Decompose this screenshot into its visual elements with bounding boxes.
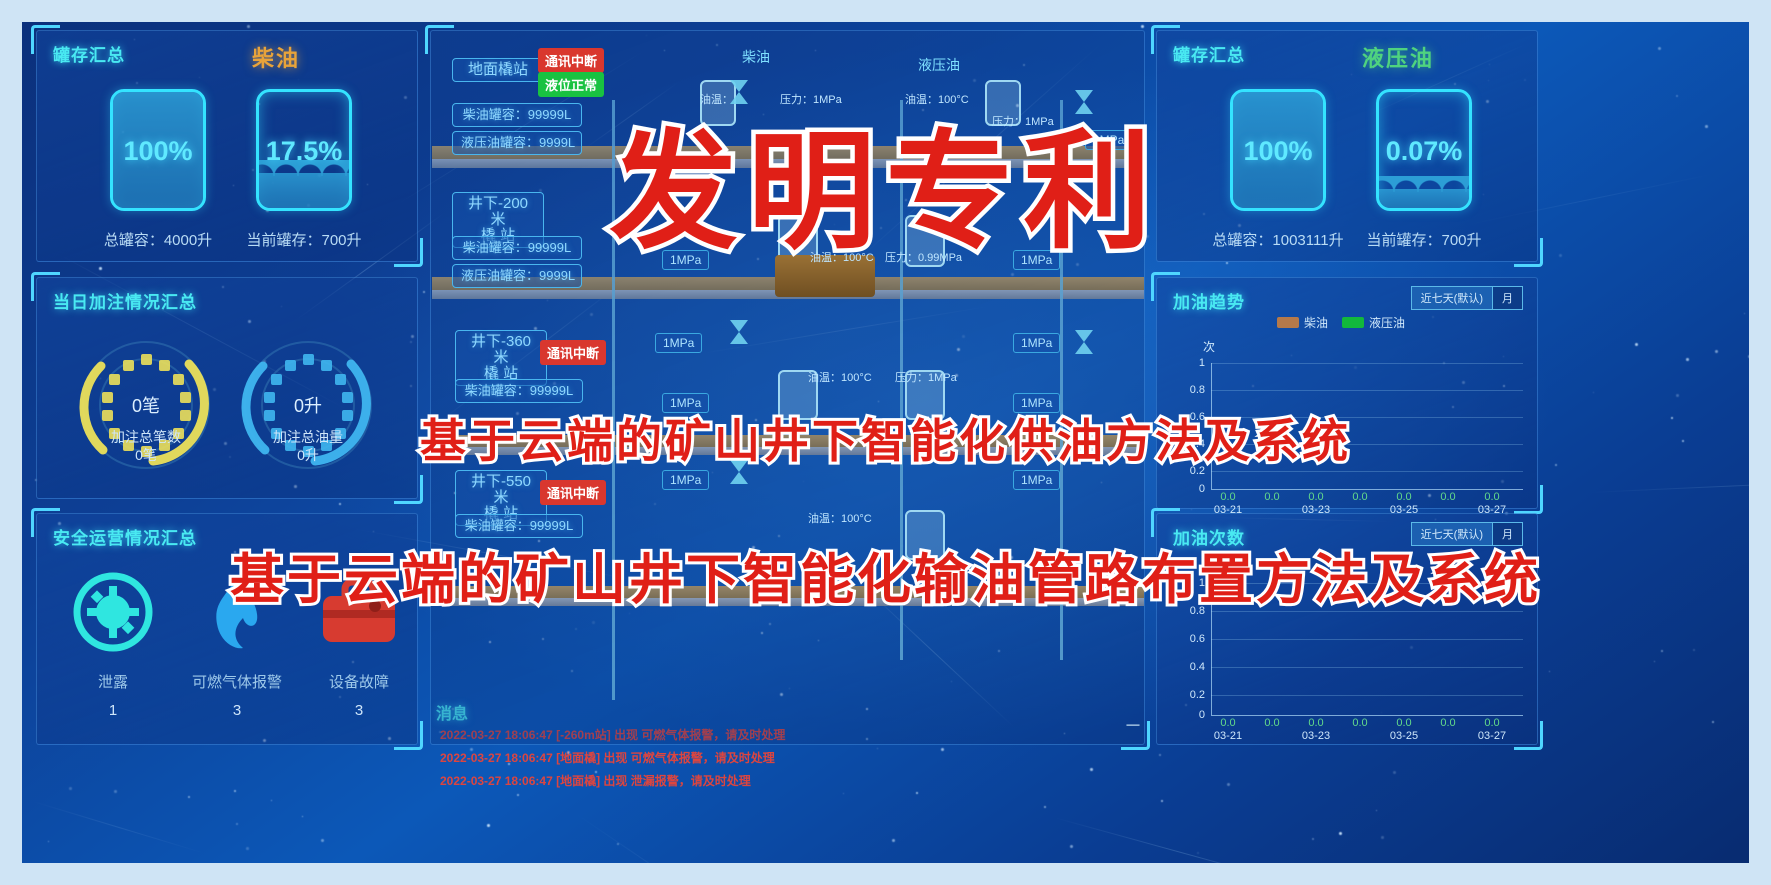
- pressure-tag-7: 1MPa: [662, 470, 709, 490]
- trend-range-buttons[interactable]: 近七天(默认) 月: [1411, 286, 1523, 310]
- trend-legend-item-hydraulic: 液压油: [1342, 314, 1405, 331]
- tank-percent-current-left: 17.5%: [259, 136, 349, 167]
- trend-range-month-button[interactable]: 月: [1493, 286, 1523, 310]
- safety-item-leak: 泄露 1: [53, 566, 173, 719]
- trend-point-label-6: 0.0: [1479, 491, 1505, 503]
- pressure-tag-3: 1MPa: [655, 333, 702, 353]
- trend-y-unit: 次: [1203, 338, 1215, 355]
- dashboard-screen: 罐存汇总 柴油 100% 总罐容：4000升 17.5% 当前罐存：700升 当…: [0, 0, 1771, 885]
- watermark-line-1: 基于云端的矿山井下智能化供油方法及系统: [420, 405, 1351, 471]
- trend-point-label-2: 0.0: [1303, 491, 1329, 503]
- count-point-label-1: 0.0: [1259, 717, 1285, 729]
- panel-title-tank-summary-right: 罐存汇总: [1173, 41, 1245, 66]
- trend-gridline: [1211, 363, 1523, 364]
- panel-daily-refuel-summary: 当日加注情况汇总 0笔: [36, 277, 418, 499]
- tank-label-current-right: 当前罐存：700升: [1349, 229, 1499, 250]
- tank-graphic-current-left: 17.5%: [256, 89, 352, 211]
- readout-3-pressure: 压力：1MPa: [895, 371, 957, 386]
- tank-label-total-left: 总罐容：4000升: [83, 229, 233, 250]
- panel-title-trend: 加油趋势: [1173, 288, 1245, 313]
- panel-tank-summary-diesel: 罐存汇总 柴油 100% 总罐容：4000升 17.5% 当前罐存：700升: [36, 30, 418, 262]
- gauge-caption-volume-line2: 0升: [223, 446, 393, 464]
- count-point-label-6: 0.0: [1479, 717, 1505, 729]
- tank-graphic-total-right: 100%: [1230, 89, 1326, 211]
- trend-point-label-4: 0.0: [1391, 491, 1417, 503]
- count-gridline: [1211, 695, 1523, 696]
- count-gridline: [1211, 667, 1523, 668]
- tank-label-total-right: 总罐容：1003111升: [1203, 229, 1353, 250]
- panel-title-tank-summary-left: 罐存汇总: [53, 41, 125, 66]
- panel-accent-hydraulic: 液压油: [1362, 41, 1434, 73]
- station-tag-2-0: 通讯中断: [540, 340, 606, 365]
- count-point-label-3: 0.0: [1347, 717, 1373, 729]
- count-xtick-3: 03-27: [1471, 730, 1513, 742]
- count-point-label-0: 0.0: [1215, 717, 1241, 729]
- trend-legend-item-diesel: 柴油: [1277, 314, 1328, 331]
- flow-label-hydraulic: 液压油: [918, 58, 960, 73]
- legend-label-diesel: 柴油: [1304, 314, 1328, 331]
- safety-value-equipment-fault: 3: [299, 702, 419, 719]
- trend-range-week-button[interactable]: 近七天(默认): [1411, 286, 1493, 310]
- readout-4-temp: 油温：100°C: [808, 512, 872, 527]
- panel-accent-diesel: 柴油: [252, 41, 300, 73]
- safety-label-equipment-fault: 设备故障: [299, 671, 419, 692]
- watermark-patent-title: 发明专利: [609, 88, 1161, 273]
- gauge-caption-count: 加注总笔数 0笔: [61, 428, 231, 464]
- trend-point-label-0: 0.0: [1215, 491, 1241, 503]
- trend-gridline: [1211, 390, 1523, 391]
- station-label-0[interactable]: 地面橇站: [452, 58, 544, 82]
- count-xtick-1: 03-23: [1295, 730, 1337, 742]
- pressure-tag-4: 1MPa: [1013, 333, 1060, 353]
- station-tag-0-1: 液位正常: [538, 72, 604, 97]
- station-capacity-1-0: 柴油罐容：99999L: [452, 236, 582, 260]
- watermark-line-2: 基于云端的矿山井下智能化输油管路布置方法及系统: [230, 535, 1541, 614]
- trend-point-label-3: 0.0: [1347, 491, 1373, 503]
- trend-legend: 柴油 液压油: [1277, 314, 1405, 331]
- station-capacity-1-1: 液压油罐容：9999L: [452, 264, 582, 288]
- panel-tank-summary-hydraulic: 罐存汇总 液压油 100% 总罐容：1003111升 0.07% 当前罐存：70…: [1156, 30, 1538, 262]
- readout-3-temp: 油温：100°C: [808, 371, 872, 386]
- tank-percent-total-left: 100%: [113, 136, 203, 167]
- count-ytick-0: 0: [1179, 709, 1205, 721]
- station-capacity-2-0: 柴油罐容：99999L: [455, 379, 583, 403]
- count-point-label-2: 0.0: [1303, 717, 1329, 729]
- station-tag-3-0: 通讯中断: [540, 480, 606, 505]
- tank-label-current-left: 当前罐存：700升: [229, 229, 379, 250]
- count-xtick-2: 03-25: [1383, 730, 1425, 742]
- legend-swatch-hydraulic: [1342, 317, 1364, 328]
- panel-title-refuel: 当日加注情况汇总: [53, 288, 197, 313]
- gauge-caption-count-line2: 0笔: [61, 446, 231, 464]
- count-point-label-5: 0.0: [1435, 717, 1461, 729]
- trend-point-label-5: 0.0: [1435, 491, 1461, 503]
- trend-gridline: [1211, 471, 1523, 472]
- gauge-caption-count-line1: 加注总笔数: [61, 428, 231, 446]
- tank-fill: [259, 173, 349, 208]
- tank-graphic-current-right: 0.07%: [1376, 89, 1472, 211]
- tank-fill: [1379, 189, 1469, 208]
- safety-value-gas-alarm: 3: [177, 702, 297, 719]
- safety-value-leak: 1: [53, 702, 173, 719]
- tank-current-right: 0.07% 当前罐存：700升: [1349, 89, 1499, 250]
- flow-label-diesel: 柴油: [742, 50, 770, 65]
- trend-ytick-08: 0.8: [1179, 384, 1205, 396]
- safety-label-gas-alarm: 可燃气体报警: [177, 671, 297, 692]
- count-point-label-4: 0.0: [1391, 717, 1417, 729]
- tank-total-left: 100% 总罐容：4000升: [83, 89, 233, 250]
- trend-ytick-1: 1: [1179, 357, 1205, 369]
- legend-swatch-diesel: [1277, 317, 1299, 328]
- pressure-tag-8: 1MPa: [1013, 470, 1060, 490]
- count-ytick-06: 0.6: [1179, 633, 1205, 645]
- tank-graphic-total-left: 100%: [110, 89, 206, 211]
- tank-current-left: 17.5% 当前罐存：700升: [229, 89, 379, 250]
- tank-percent-current-right: 0.07%: [1379, 136, 1469, 167]
- tank-wave: [1376, 176, 1472, 192]
- trend-ytick-0: 0: [1179, 483, 1205, 495]
- gauge-caption-volume: 加注总油量 0升: [223, 428, 393, 464]
- count-xtick-0: 03-21: [1207, 730, 1249, 742]
- count-gridline: [1211, 639, 1523, 640]
- legend-label-hydraulic: 液压油: [1369, 314, 1405, 331]
- station-tag-0-0: 通讯中断: [538, 48, 604, 73]
- panel-refuel-trend-chart: 加油趋势 近七天(默认) 月 柴油 液压油 次 1 0.8 0.6 0.4 0.…: [1156, 277, 1538, 509]
- station-capacity-0-0: 柴油罐容：99999L: [452, 103, 582, 127]
- count-x-axis: [1211, 715, 1523, 716]
- station-label-2[interactable]: 井下-360米 橇 站: [455, 330, 547, 386]
- trend-x-axis: [1211, 489, 1523, 490]
- panel-title-safety: 安全运营情况汇总: [53, 524, 197, 549]
- tank-percent-total-right: 100%: [1233, 136, 1323, 167]
- count-ytick-02: 0.2: [1179, 689, 1205, 701]
- leak-icon: [67, 566, 159, 658]
- zoom-out-button[interactable]: －: [1124, 712, 1142, 738]
- count-ytick-04: 0.4: [1179, 661, 1205, 673]
- safety-label-leak: 泄露: [53, 671, 173, 692]
- gauge-caption-volume-line1: 加注总油量: [223, 428, 393, 446]
- trend-point-label-1: 0.0: [1259, 491, 1285, 503]
- tank-total-right: 100% 总罐容：1003111升: [1203, 89, 1353, 250]
- station-capacity-0-1: 液压油罐容：9999L: [452, 131, 582, 155]
